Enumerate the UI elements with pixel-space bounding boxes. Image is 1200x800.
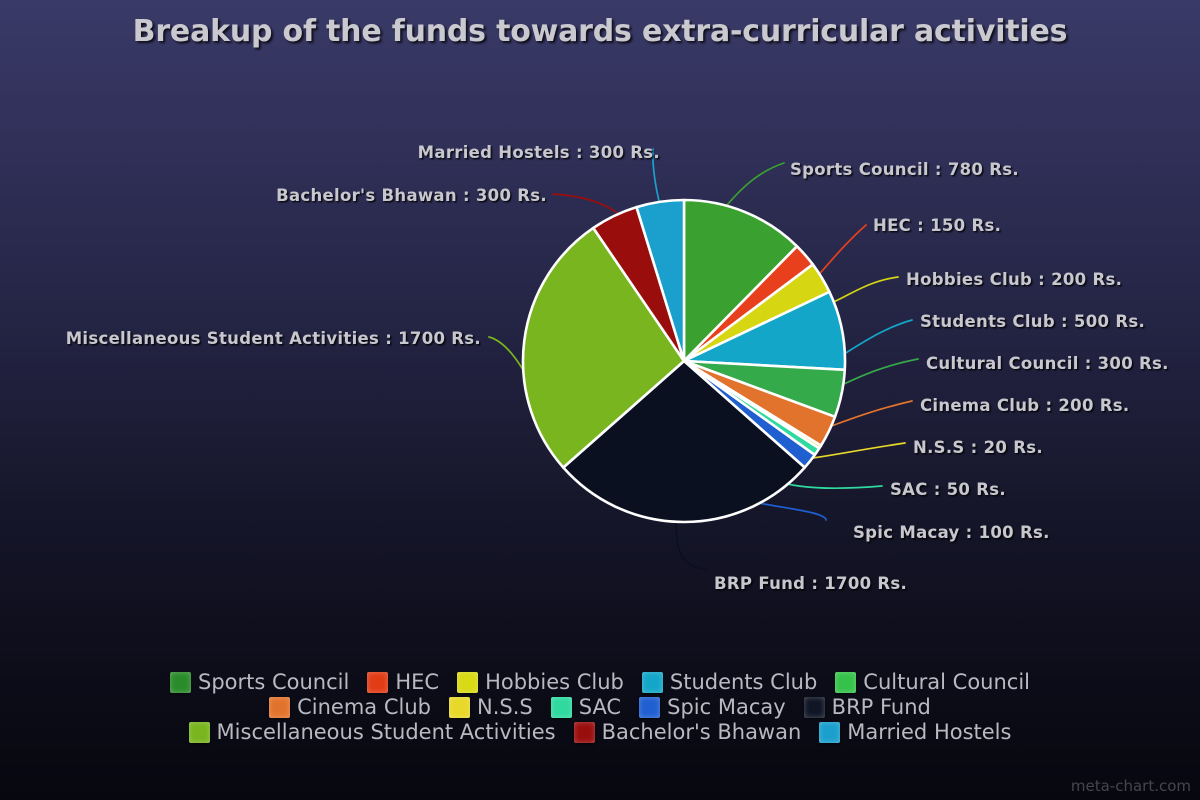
callout-label-cultural-council: Cultural Council : 300 Rs.	[926, 354, 1169, 373]
legend-label: Cinema Club	[297, 697, 431, 718]
callout-label-brp-fund: BRP Fund : 1700 Rs.	[714, 574, 907, 593]
pie-slices-group	[523, 200, 845, 522]
callout-label-nss: N.S.S : 20 Rs.	[913, 438, 1043, 457]
legend-item-bachelor-s-bhawan[interactable]: Bachelor's Bhawan	[574, 722, 802, 743]
legend-item-students-club[interactable]: Students Club	[642, 672, 817, 693]
legend-item-sports-council[interactable]: Sports Council	[170, 672, 349, 693]
legend-item-cultural-council[interactable]: Cultural Council	[835, 672, 1030, 693]
chart-canvas: Breakup of the funds towards extra-curri…	[0, 0, 1200, 800]
chart-legend: Sports CouncilHECHobbies ClubStudents Cl…	[0, 672, 1200, 743]
legend-swatch-icon	[367, 672, 388, 693]
legend-label: BRP Fund	[832, 697, 931, 718]
callout-label-hec: HEC : 150 Rs.	[873, 216, 1001, 235]
legend-swatch-icon	[457, 672, 478, 693]
watermark: meta-chart.com	[1071, 777, 1191, 795]
legend-swatch-icon	[835, 672, 856, 693]
callout-label-hobbies-club: Hobbies Club : 200 Rs.	[906, 270, 1122, 289]
callout-label-bachelors-bhawan: Bachelor's Bhawan : 300 Rs.	[276, 186, 547, 205]
callout-label-spic-macay: Spic Macay : 100 Rs.	[853, 523, 1050, 542]
legend-item-cinema-club[interactable]: Cinema Club	[269, 697, 431, 718]
legend-swatch-icon	[574, 722, 595, 743]
callout-label-cinema-club: Cinema Club : 200 Rs.	[920, 396, 1129, 415]
legend-label: SAC	[579, 697, 621, 718]
legend-label: Bachelor's Bhawan	[602, 722, 802, 743]
legend-swatch-icon	[170, 672, 191, 693]
legend-label: N.S.S	[477, 697, 533, 718]
legend-item-spic-macay[interactable]: Spic Macay	[639, 697, 786, 718]
legend-item-miscellaneous-student-activities[interactable]: Miscellaneous Student Activities	[189, 722, 556, 743]
legend-item-brp-fund[interactable]: BRP Fund	[804, 697, 931, 718]
callout-label-misc-activities: Miscellaneous Student Activities : 1700 …	[66, 329, 481, 348]
callout-label-married-hostels: Married Hostels : 300 Rs.	[418, 143, 660, 162]
leader-line	[727, 163, 784, 205]
legend-label: Married Hostels	[847, 722, 1011, 743]
legend-label: Cultural Council	[863, 672, 1030, 693]
leader-line	[676, 523, 708, 570]
callout-label-sports-council: Sports Council : 780 Rs.	[790, 160, 1019, 179]
legend-row: Cinema ClubN.S.SSACSpic MacayBRP Fund	[269, 697, 931, 718]
legend-swatch-icon	[639, 697, 660, 718]
legend-item-hobbies-club[interactable]: Hobbies Club	[457, 672, 624, 693]
legend-label: Students Club	[670, 672, 817, 693]
legend-item-married-hostels[interactable]: Married Hostels	[819, 722, 1011, 743]
legend-swatch-icon	[804, 697, 825, 718]
legend-swatch-icon	[642, 672, 663, 693]
legend-row: Miscellaneous Student ActivitiesBachelor…	[189, 722, 1012, 743]
callout-label-students-club: Students Club : 500 Rs.	[920, 312, 1145, 331]
legend-item-hec[interactable]: HEC	[367, 672, 439, 693]
legend-label: Miscellaneous Student Activities	[217, 722, 556, 743]
legend-label: Hobbies Club	[485, 672, 624, 693]
legend-swatch-icon	[269, 697, 290, 718]
legend-swatch-icon	[449, 697, 470, 718]
legend-label: Spic Macay	[667, 697, 786, 718]
legend-swatch-icon	[819, 722, 840, 743]
legend-label: Sports Council	[198, 672, 349, 693]
legend-label: HEC	[395, 672, 439, 693]
legend-swatch-icon	[551, 697, 572, 718]
legend-item-sac[interactable]: SAC	[551, 697, 621, 718]
callout-label-sac: SAC : 50 Rs.	[890, 480, 1006, 499]
legend-item-n-s-s[interactable]: N.S.S	[449, 697, 533, 718]
legend-row: Sports CouncilHECHobbies ClubStudents Cl…	[170, 672, 1030, 693]
legend-swatch-icon	[189, 722, 210, 743]
